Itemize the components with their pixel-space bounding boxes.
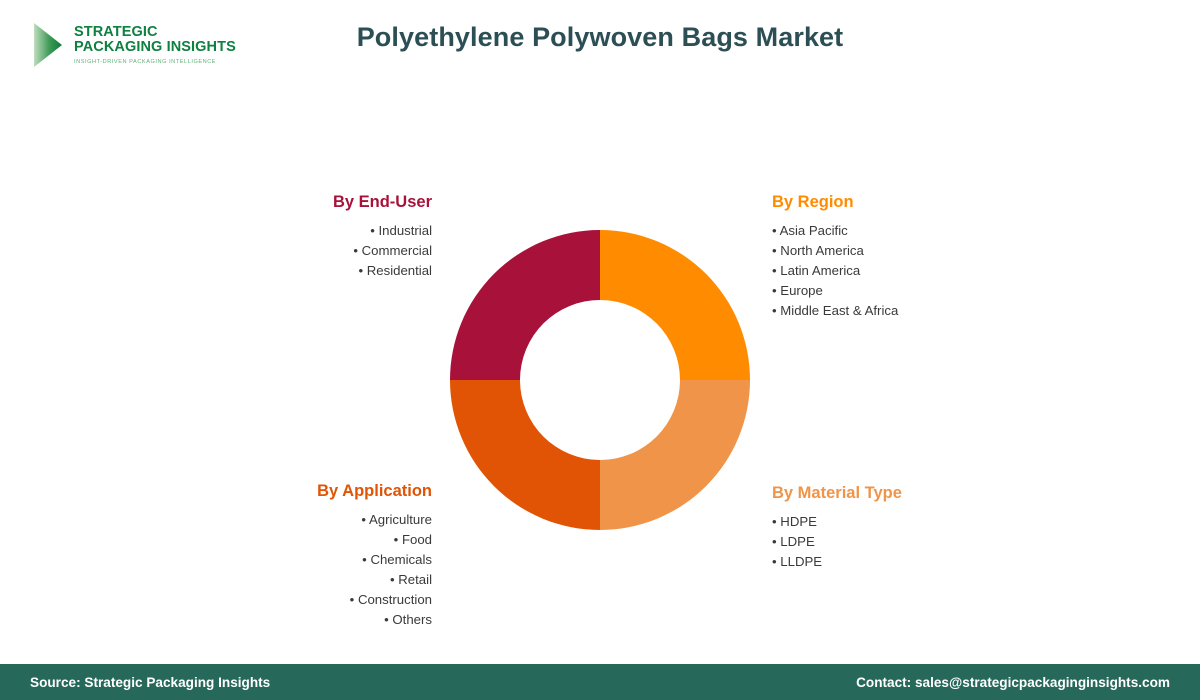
list-item: • Chemicals — [160, 550, 432, 570]
footer-contact[interactable]: Contact: sales@strategicpackaginginsight… — [856, 675, 1170, 690]
list-item-label: Retail — [398, 572, 432, 587]
bullet-icon: • — [394, 532, 399, 547]
list-item: • Latin America — [772, 261, 1052, 281]
bullet-icon: • — [772, 534, 777, 549]
list-item: • North America — [772, 241, 1052, 261]
page-title: Polyethylene Polywoven Bags Market — [0, 22, 1200, 53]
list-item-label: Agriculture — [369, 512, 432, 527]
footer-bar: Source: Strategic Packaging Insights Con… — [0, 664, 1200, 700]
segment-end-user-heading: By End-User — [180, 193, 432, 212]
list-item: • Residential — [180, 261, 432, 281]
bullet-icon: • — [353, 243, 358, 258]
bullet-icon: • — [772, 223, 777, 238]
segment-application-heading: By Application — [160, 482, 432, 501]
list-item: • LDPE — [772, 532, 1052, 552]
list-item-label: Construction — [358, 592, 432, 607]
list-item-label: Food — [402, 532, 432, 547]
list-item: • Asia Pacific — [772, 221, 1052, 241]
donut-slice-end-user — [450, 230, 600, 380]
list-item-label: Industrial — [378, 223, 432, 238]
segment-application: By Application • Agriculture • Food • Ch… — [160, 482, 432, 630]
list-item-label: Latin America — [780, 263, 860, 278]
list-item-label: LDPE — [780, 534, 814, 549]
segment-application-list: • Agriculture • Food • Chemicals • Retai… — [160, 510, 432, 630]
list-item-label: Middle East & Africa — [780, 303, 898, 318]
bullet-icon: • — [772, 243, 777, 258]
segment-material-type: By Material Type • HDPE • LDPE • LLDPE — [772, 484, 1052, 572]
list-item-label: North America — [780, 243, 864, 258]
bullet-icon: • — [358, 263, 363, 278]
list-item-label: Asia Pacific — [780, 223, 848, 238]
list-item: • Retail — [160, 570, 432, 590]
donut-slice-material-type — [600, 380, 750, 530]
list-item-label: Residential — [367, 263, 432, 278]
list-item-label: Chemicals — [370, 552, 432, 567]
list-item-label: Europe — [780, 283, 823, 298]
segment-region-list: • Asia Pacific • North America • Latin A… — [772, 221, 1052, 321]
bullet-icon: • — [772, 283, 777, 298]
donut-chart — [450, 230, 750, 530]
list-item: • Construction — [160, 590, 432, 610]
segment-region-heading: By Region — [772, 193, 1052, 212]
bullet-icon: • — [772, 263, 777, 278]
list-item: • Food — [160, 530, 432, 550]
segment-end-user-list: • Industrial • Commercial • Residential — [180, 221, 432, 281]
bullet-icon: • — [772, 514, 777, 529]
list-item: • HDPE — [772, 512, 1052, 532]
list-item-label: HDPE — [780, 514, 817, 529]
footer-source: Source: Strategic Packaging Insights — [30, 675, 270, 690]
list-item: • Others — [160, 610, 432, 630]
list-item-label: Commercial — [362, 243, 432, 258]
segment-material-type-heading: By Material Type — [772, 484, 1052, 503]
list-item: • LLDPE — [772, 552, 1052, 572]
list-item: • Europe — [772, 281, 1052, 301]
list-item: • Agriculture — [160, 510, 432, 530]
bullet-icon: • — [390, 572, 395, 587]
bullet-icon: • — [361, 512, 366, 527]
list-item-label: Others — [392, 612, 432, 627]
segment-material-type-list: • HDPE • LDPE • LLDPE — [772, 512, 1052, 572]
list-item: • Commercial — [180, 241, 432, 261]
bullet-icon: • — [370, 223, 375, 238]
list-item-label: LLDPE — [780, 554, 822, 569]
infographic-page: STRATEGIC PACKAGING INSIGHTS INSIGHT-DRI… — [0, 0, 1200, 700]
donut-slice-application — [450, 380, 600, 530]
logo-tagline: INSIGHT-DRIVEN PACKAGING INTELLIGENCE — [74, 60, 236, 66]
bullet-icon: • — [362, 552, 367, 567]
segment-end-user: By End-User • Industrial • Commercial • … — [180, 193, 432, 281]
bullet-icon: • — [772, 554, 777, 569]
donut-slice-region — [600, 230, 750, 380]
list-item: • Industrial — [180, 221, 432, 241]
bullet-icon: • — [772, 303, 777, 318]
segment-region: By Region • Asia Pacific • North America… — [772, 193, 1052, 321]
list-item: • Middle East & Africa — [772, 301, 1052, 321]
bullet-icon: • — [384, 612, 389, 627]
bullet-icon: • — [350, 592, 355, 607]
